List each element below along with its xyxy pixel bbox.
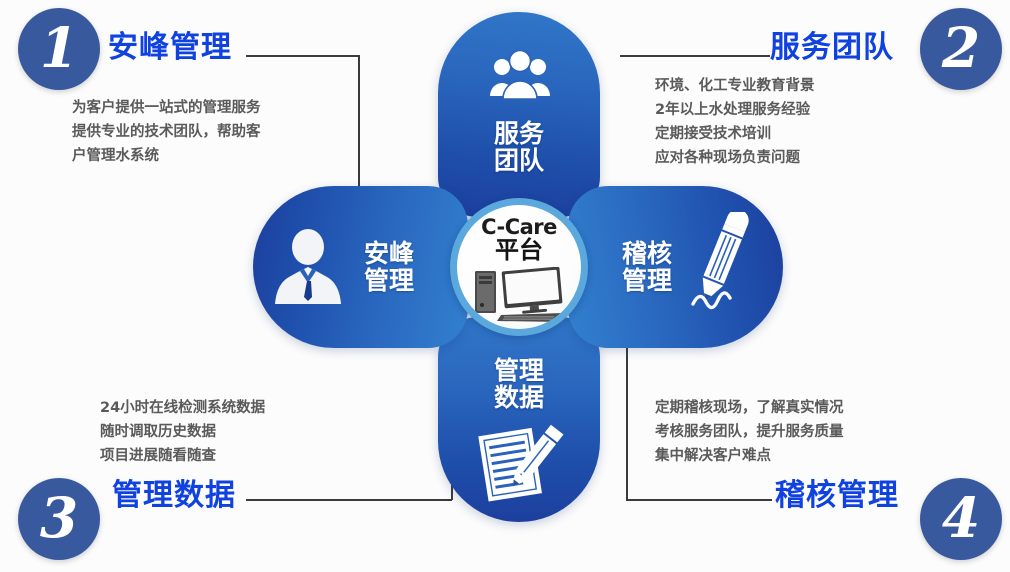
section-body-3: 24小时在线检测系统数据 随时调取历史数据 项目进展随看随查 [100, 396, 265, 468]
section-body-1: 为客户提供一站式的管理服务 提供专业的技术团队，帮助客 户管理水系统 [72, 96, 261, 168]
infographic-canvas: 1 2 3 4 安峰管理 服务团队 管理数据 稽核管理 为客户提供一站式的管理服… [0, 0, 1010, 572]
petal-label-anfeng-management: 安峰 管理 [341, 240, 437, 294]
hub-subtitle: 平台 [457, 238, 581, 262]
flower-diagram: 服务 团队 安峰 管理 稽核 管理 管理 数据 C-Care 平台 [253, 12, 783, 522]
section-body-3-line-1: 24小时在线检测系统数据 [100, 396, 265, 420]
number-badge-2: 2 [920, 8, 1002, 90]
petal-service-team[interactable] [438, 12, 600, 217]
section-body-3-line-2: 随时调取历史数据 [100, 420, 265, 444]
section-body-3-line-3: 项目进展随看随查 [100, 444, 265, 468]
pencil-icon [685, 212, 763, 318]
people-group-icon [489, 50, 551, 100]
hub-center[interactable]: C-Care 平台 [457, 205, 581, 329]
section-heading-4: 稽核管理 [775, 470, 899, 514]
desktop-computer-icon [471, 267, 567, 323]
document-pencil-icon [475, 422, 567, 504]
petal-label-service-team: 服务 团队 [438, 120, 600, 174]
section-body-1-line-1: 为客户提供一站式的管理服务 [72, 96, 261, 120]
number-badge-4: 4 [920, 478, 1002, 560]
number-badge-2-label: 2 [942, 20, 980, 75]
section-heading-2: 服务团队 [770, 22, 894, 66]
section-body-1-line-3: 户管理水系统 [72, 144, 261, 168]
number-badge-3-label: 3 [40, 490, 78, 545]
number-badge-1-label: 1 [40, 20, 78, 75]
hub-title: C-Care [457, 217, 581, 238]
number-badge-4-label: 4 [942, 490, 980, 545]
section-body-1-line-2: 提供专业的技术团队，帮助客 [72, 120, 261, 144]
section-heading-3: 管理数据 [112, 470, 236, 514]
number-badge-3: 3 [18, 478, 100, 560]
petal-label-audit-management: 稽核 管理 [599, 240, 695, 294]
petal-label-management-data: 管理 数据 [438, 357, 600, 411]
number-badge-1: 1 [18, 8, 100, 90]
businessman-icon [271, 227, 345, 307]
section-heading-1: 安峰管理 [108, 22, 232, 66]
